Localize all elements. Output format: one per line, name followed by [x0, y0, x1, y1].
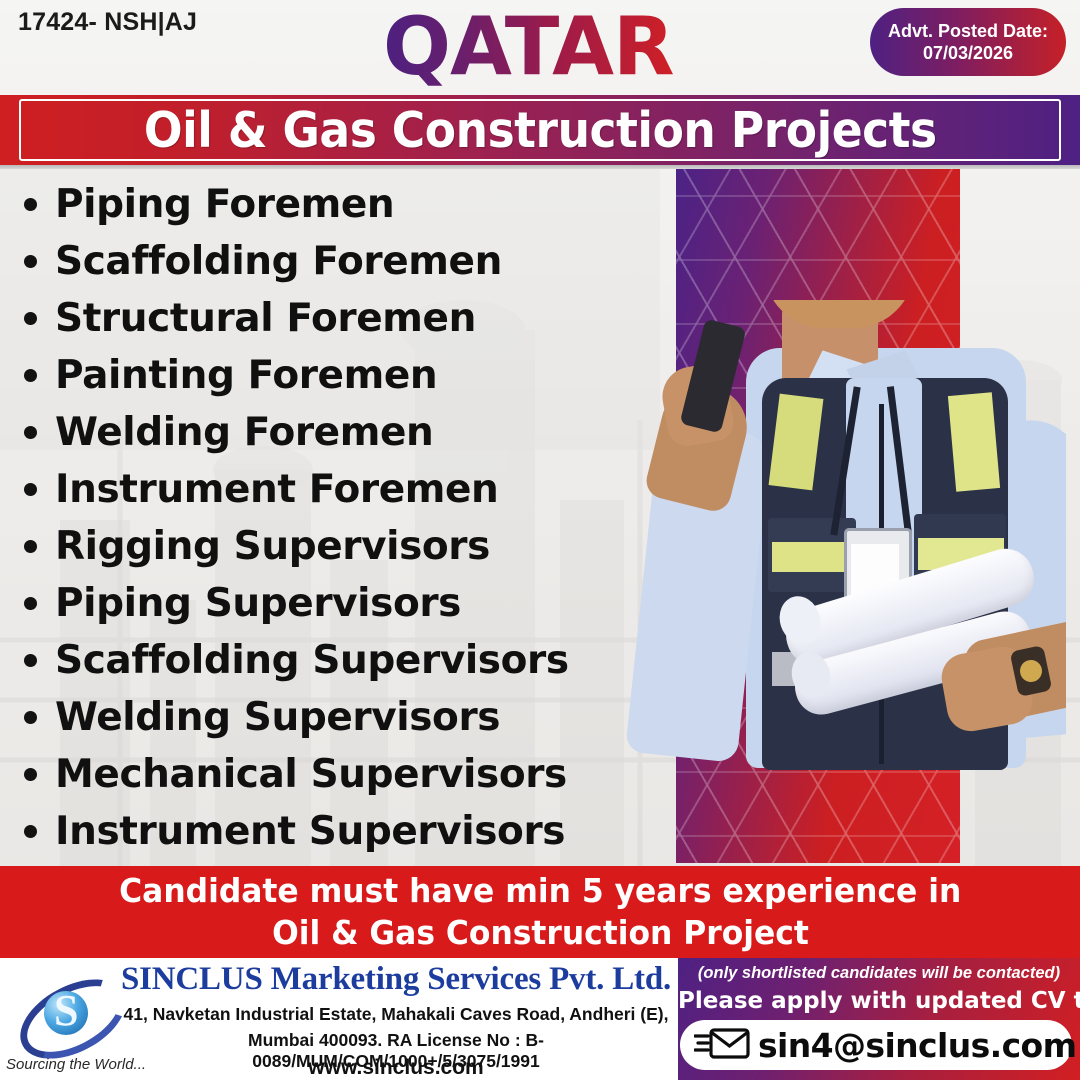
list-item: Piping Supervisors: [14, 575, 674, 632]
bullet-icon: [24, 312, 37, 325]
country-title: QATAR: [383, 1, 674, 93]
list-item: Piping Foremen: [14, 176, 674, 233]
job-title: Structural Foremen: [55, 296, 476, 341]
job-title: Piping Foremen: [55, 182, 394, 227]
envelope-icon: [694, 1025, 750, 1066]
list-item: Scaffolding Foremen: [14, 233, 674, 290]
list-item: Welding Supervisors: [14, 689, 674, 746]
job-title: Rigging Supervisors: [55, 524, 490, 569]
experience-line-1: Candidate must have min 5 years experien…: [119, 870, 961, 912]
job-title: Scaffolding Supervisors: [55, 638, 569, 683]
reflective-stripe-right-shoulder: [948, 392, 1000, 491]
title-banner-frame: Oil & Gas Construction Projects: [19, 99, 1061, 161]
job-advertisement-poster: 17424- NSH|AJ QATAR Advt. Posted Date: 0…: [0, 0, 1080, 1080]
posted-date-value: 07/03/2026: [923, 42, 1013, 65]
job-title: Instrument Supervisors: [55, 809, 565, 854]
job-title: Piping Supervisors: [55, 581, 461, 626]
footer-company-info: S Sourcing the World... SINCLUS Marketin…: [0, 958, 678, 1080]
job-title: Welding Foremen: [55, 410, 433, 455]
logo-letter: S: [54, 988, 78, 1036]
job-title: Instrument Foremen: [55, 467, 498, 512]
bullet-icon: [24, 369, 37, 382]
company-address-line-1: 41, Navketan Industrial Estate, Mahakali…: [118, 1004, 674, 1025]
list-item: Mechanical Supervisors: [14, 746, 674, 803]
title-banner: Oil & Gas Construction Projects: [0, 95, 1080, 165]
bullet-icon: [24, 711, 37, 724]
footer-apply-panel: (only shortlisted candidates will be con…: [678, 958, 1080, 1080]
job-list: Piping Foremen Scaffolding Foremen Struc…: [14, 176, 674, 860]
bullet-icon: [24, 255, 37, 268]
bullet-icon: [24, 768, 37, 781]
posted-date-label: Advt. Posted Date:: [888, 20, 1048, 43]
footer: S Sourcing the World... SINCLUS Marketin…: [0, 958, 1080, 1080]
bullet-icon: [24, 426, 37, 439]
contact-email: sin4@sinclus.com: [758, 1026, 1076, 1065]
bullet-icon: [24, 483, 37, 496]
header: 17424- NSH|AJ QATAR Advt. Posted Date: 0…: [0, 0, 1080, 95]
reflective-stripe-left-pocket: [772, 542, 852, 572]
reference-code: 17424- NSH|AJ: [18, 8, 197, 37]
bullet-icon: [24, 825, 37, 838]
bullet-icon: [24, 540, 37, 553]
list-item: Scaffolding Supervisors: [14, 632, 674, 689]
company-name: SINCLUS Marketing Services Pvt. Ltd.: [118, 961, 674, 998]
company-website[interactable]: www.sinclus.com: [118, 1056, 674, 1080]
sinclus-logo-icon: S: [14, 964, 118, 1060]
shortlist-note: (only shortlisted candidates will be con…: [678, 964, 1080, 983]
list-item: Structural Foremen: [14, 290, 674, 347]
posted-date-badge: Advt. Posted Date: 07/03/2026: [870, 8, 1066, 76]
experience-line-2: Oil & Gas Construction Project: [272, 912, 809, 954]
title-banner-text: Oil & Gas Construction Projects: [144, 102, 937, 159]
email-pill[interactable]: sin4@sinclus.com: [680, 1020, 1072, 1070]
list-item: Instrument Foremen: [14, 461, 674, 518]
list-item: Welding Foremen: [14, 404, 674, 461]
apply-instruction: Please apply with updated CV to: [678, 988, 1080, 1014]
bullet-icon: [24, 198, 37, 211]
experience-requirement-banner: Candidate must have min 5 years experien…: [0, 866, 1080, 958]
list-item: Instrument Supervisors: [14, 803, 674, 860]
list-item: Painting Foremen: [14, 347, 674, 404]
job-title: Welding Supervisors: [55, 695, 500, 740]
job-title: Painting Foremen: [55, 353, 437, 398]
job-title: Scaffolding Foremen: [55, 239, 502, 284]
bullet-icon: [24, 654, 37, 667]
job-title: Mechanical Supervisors: [55, 752, 567, 797]
list-item: Rigging Supervisors: [14, 518, 674, 575]
bullet-icon: [24, 597, 37, 610]
